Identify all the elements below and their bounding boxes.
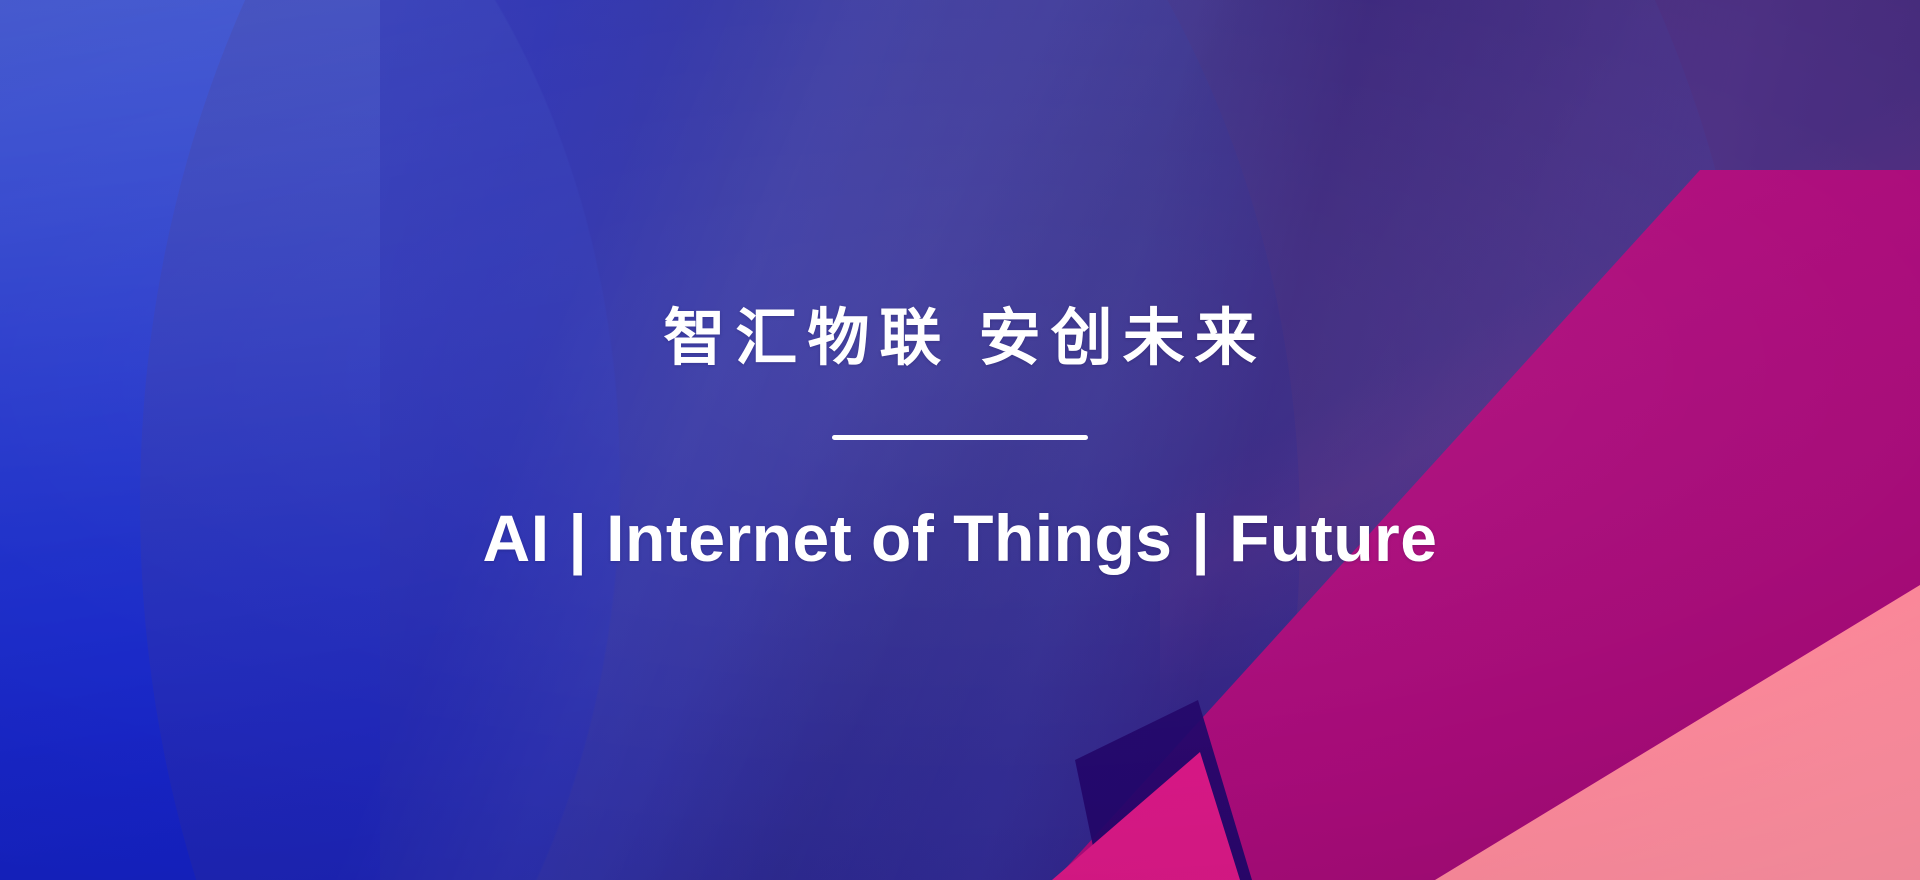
promotional-banner: 智汇物联 安创未来 AI | Internet of Things | Futu…: [0, 0, 1920, 880]
banner-subtitle: AI | Internet of Things | Future: [483, 502, 1438, 575]
banner-headline: 智汇物联 安创未来: [653, 305, 1266, 373]
banner-content: 智汇物联 安创未来 AI | Internet of Things | Futu…: [0, 0, 1920, 880]
headline-divider: [832, 435, 1088, 440]
